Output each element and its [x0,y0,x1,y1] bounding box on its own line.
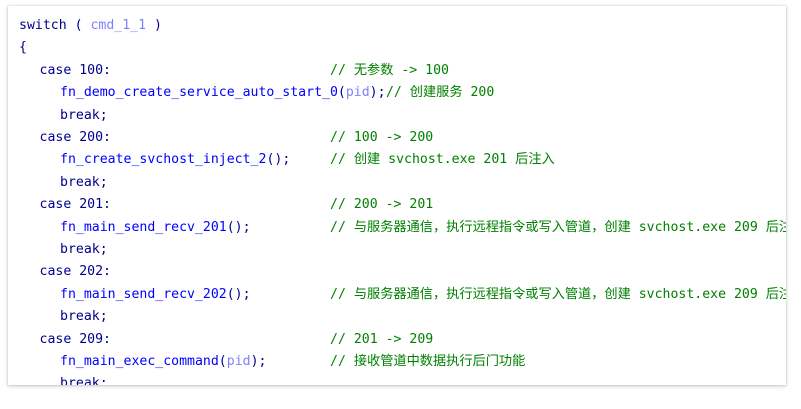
code-line[interactable]: case 200:// 100 -> 200 [8,127,786,149]
code-comment: // 无参数 -> 100 [330,60,449,82]
code-token-var: pid [227,354,251,369]
code-token-plain: ( [338,85,346,100]
code-line[interactable]: fn_main_send_recv_202();// 与服务器通信，执行远程指令… [8,284,786,306]
code-line-text: break; [60,172,108,194]
code-token-plain: (); [227,220,251,235]
code-line[interactable]: break; [8,239,786,261]
code-comment: // 创建 svchost.exe 201 后注入 [330,149,555,171]
code-token-kw: break; [60,242,108,257]
code-token-fn: fn_main_send_recv_202 [60,287,227,302]
code-line[interactable]: fn_demo_create_service_auto_start_0(pid)… [8,82,786,104]
code-comment: // 100 -> 200 [330,127,433,149]
code-token-plain: { [19,40,27,55]
code-comment: // 与服务器通信，执行远程指令或写入管道，创建 svchost.exe 209… [330,284,786,306]
code-token-kw: break; [60,175,108,190]
code-line-text: fn_main_send_recv_202(); [60,284,251,306]
code-line-text: fn_create_svchost_inject_2(); [60,149,290,171]
code-token-kw: break; [60,108,108,123]
code-token-plain: (); [227,287,251,302]
code-snippet-card: switch ( cmd_1_1 ){case 100:// 无参数 -> 10… [8,6,786,385]
code-comment: // 与服务器通信，执行远程指令或写入管道，创建 svchost.exe 209… [330,217,786,239]
code-line-text: break; [60,373,108,385]
code-line[interactable]: case 209:// 201 -> 209 [8,329,786,351]
code-line[interactable]: break; [8,373,786,385]
code-line[interactable]: break; [8,306,786,328]
code-line-text: case 200: [40,127,111,149]
code-token-kw: case 100: [40,63,111,78]
code-token-var: cmd_1_1 [90,18,146,33]
code-token-plain: switch ( [19,18,90,33]
code-token-plain: ) [146,18,162,33]
code-token-fn: fn_demo_create_service_auto_start_0 [60,85,338,100]
code-token-plain: ); [251,354,267,369]
code-line[interactable]: case 201:// 200 -> 201 [8,194,786,216]
code-line-text: fn_main_send_recv_201(); [60,217,251,239]
code-comment: // 创建服务 200 [386,82,494,104]
code-line[interactable]: switch ( cmd_1_1 ) [8,15,786,37]
code-line[interactable]: case 100:// 无参数 -> 100 [8,60,786,82]
code-token-plain: (); [266,152,290,167]
code-line[interactable]: break; [8,105,786,127]
code-editor-body[interactable]: switch ( cmd_1_1 ){case 100:// 无参数 -> 10… [8,6,786,385]
code-token-var: pid [346,85,370,100]
code-token-kw: case 200: [40,130,111,145]
code-token-kw: case 202: [40,264,111,279]
code-line-text: case 202: [40,261,111,283]
code-line-text: break; [60,239,108,261]
code-line-text: switch ( cmd_1_1 ) [19,15,162,37]
code-line[interactable]: fn_main_send_recv_201();// 与服务器通信，执行远程指令… [8,217,786,239]
code-comment: // 200 -> 201 [330,194,433,216]
code-token-plain: ); [370,85,386,100]
code-token-fn: fn_main_send_recv_201 [60,220,227,235]
code-token-fn: fn_main_exec_command [60,354,219,369]
code-comment: // 接收管道中数据执行后门功能 [330,351,525,373]
code-line[interactable]: { [8,37,786,59]
code-line-text: case 100: [40,60,111,82]
code-token-fn: fn_create_svchost_inject_2 [60,152,266,167]
code-token-kw: case 201: [40,197,111,212]
code-line-text: break; [60,306,108,328]
code-token-kw: break; [60,309,108,324]
code-token-kw: break; [60,376,108,385]
code-line[interactable]: fn_create_svchost_inject_2();// 创建 svcho… [8,149,786,171]
code-line-text: { [19,37,27,59]
code-token-kw: case 209: [40,332,111,347]
code-line-text: case 201: [40,194,111,216]
code-line[interactable]: fn_main_exec_command(pid);// 接收管道中数据执行后门… [8,351,786,373]
code-line[interactable]: case 202: [8,261,786,283]
code-token-plain: ( [219,354,227,369]
code-line-text: fn_demo_create_service_auto_start_0(pid)… [60,82,386,104]
code-line-text: fn_main_exec_command(pid); [60,351,266,373]
code-line-text: break; [60,105,108,127]
code-line-text: case 209: [40,329,111,351]
code-comment: // 201 -> 209 [330,329,433,351]
code-line[interactable]: break; [8,172,786,194]
